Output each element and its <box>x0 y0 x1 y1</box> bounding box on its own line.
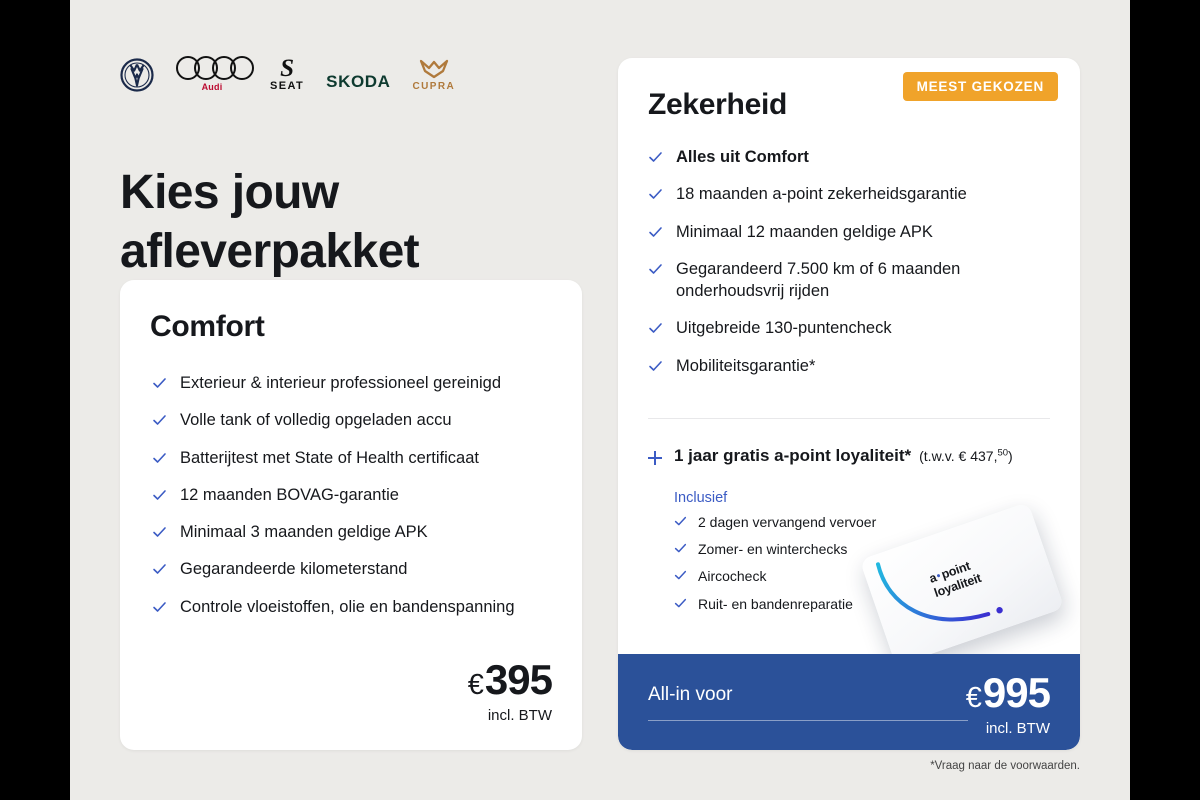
check-icon <box>648 187 663 202</box>
list-item-label: Volle tank of volledig opgeladen accu <box>180 409 452 431</box>
list-item-label: 12 maanden BOVAG-garantie <box>180 484 399 506</box>
loyalty-brand-dot <box>936 574 940 578</box>
brand-logo-bar: Audi S SEAT SKODA CUPRA <box>120 50 455 92</box>
check-icon <box>152 376 167 391</box>
comfort-price: €395 <box>468 659 552 701</box>
list-item: 18 maanden a-point zekerheidsgarantie <box>648 183 1058 205</box>
check-icon <box>648 262 663 277</box>
list-item-label: 2 dagen vervangend vervoer <box>698 513 876 531</box>
plus-icon <box>648 451 662 465</box>
audi-logo-icon: Audi <box>176 56 248 92</box>
loyalty-bonus-title: 1 jaar gratis a-point loyaliteit* <box>674 446 911 465</box>
list-item: Uitgebreide 130-puntencheck <box>648 317 1058 339</box>
currency-symbol: € <box>966 682 982 714</box>
seat-logo-icon: S SEAT <box>270 58 304 92</box>
letterbox-left <box>0 0 70 800</box>
cupra-logo-icon: CUPRA <box>413 59 456 92</box>
check-icon <box>152 600 167 615</box>
list-item-label: Uitgebreide 130-puntencheck <box>676 317 892 339</box>
list-item-label: Gegarandeerde kilometerstand <box>180 558 407 580</box>
list-item: Controle vloeistoffen, olie en bandenspa… <box>152 596 552 618</box>
list-item-label: Controle vloeistoffen, olie en bandenspa… <box>180 596 515 618</box>
list-item: Gegarandeerde kilometerstand <box>152 558 552 580</box>
zekerheid-price-footer: All-in voor €995 incl. BTW <box>618 654 1080 750</box>
list-item: 12 maanden BOVAG-garantie <box>152 484 552 506</box>
included-label: Inclusief <box>674 490 727 506</box>
comfort-feature-list: Exterieur & interieur professioneel gere… <box>152 372 552 633</box>
loyalty-value-suffix: ) <box>1008 448 1013 464</box>
zekerheid-feature-list: Alles uit Comfort 18 maanden a-point zek… <box>648 146 1058 392</box>
loyalty-bonus-value: (t.w.v. € 437,50) <box>919 448 1013 464</box>
list-item: Alles uit Comfort <box>648 146 1058 168</box>
currency-symbol: € <box>468 669 484 701</box>
check-icon <box>152 413 167 428</box>
zekerheid-price-block: €995 incl. BTW <box>966 672 1050 737</box>
page-canvas: Audi S SEAT SKODA CUPRA Kies jouw afleve… <box>70 0 1130 800</box>
check-icon <box>674 542 687 555</box>
status-badge: MEEST GEKOZEN <box>903 72 1058 101</box>
list-item-label: Minimaal 3 maanden geldige APK <box>180 521 428 543</box>
check-icon <box>152 451 167 466</box>
comfort-package-card[interactable]: Comfort Exterieur & interieur profession… <box>120 280 582 750</box>
loyalty-value-cents: 50 <box>997 447 1008 458</box>
cupra-wordmark: CUPRA <box>413 81 456 92</box>
comfort-price-note: incl. BTW <box>468 707 552 724</box>
list-item: Mobiliteitsgarantie* <box>648 355 1058 377</box>
comfort-price-amount: 395 <box>485 656 552 703</box>
letterbox-right <box>1130 0 1200 800</box>
list-item: Exterieur & interieur professioneel gere… <box>152 372 552 394</box>
list-item: Volle tank of volledig opgeladen accu <box>152 409 552 431</box>
zekerheid-price-amount: 995 <box>983 669 1050 716</box>
list-item-label: Mobiliteitsgarantie* <box>676 355 815 377</box>
list-item-label: Gegarandeerd 7.500 km of 6 maanden onder… <box>676 258 1058 303</box>
audi-wordmark: Audi <box>202 82 223 92</box>
volkswagen-logo-icon <box>120 58 154 92</box>
check-icon <box>152 562 167 577</box>
skoda-logo-icon: SKODA <box>326 72 390 92</box>
footer-rule <box>648 720 968 721</box>
list-item: Minimaal 12 maanden geldige APK <box>648 221 1058 243</box>
check-icon <box>648 150 663 165</box>
comfort-card-title: Comfort <box>150 310 265 344</box>
all-in-label: All-in voor <box>648 684 732 706</box>
zekerheid-card-title: Zekerheid <box>648 88 787 122</box>
skoda-wordmark: SKODA <box>326 72 390 92</box>
loyalty-bonus-row: 1 jaar gratis a-point loyaliteit*(t.w.v.… <box>648 446 1060 466</box>
footnote: *Vraag naar de voorwaarden. <box>930 760 1080 772</box>
check-icon <box>674 569 687 582</box>
section-divider <box>648 418 1050 419</box>
zekerheid-price: €995 <box>966 672 1050 714</box>
check-icon <box>152 525 167 540</box>
list-item: Gegarandeerd 7.500 km of 6 maanden onder… <box>648 258 1058 303</box>
list-item-label: Aircocheck <box>698 567 766 585</box>
screenshot-stage: Audi S SEAT SKODA CUPRA Kies jouw afleve… <box>0 0 1200 800</box>
list-item-label: 18 maanden a-point zekerheidsgarantie <box>676 183 967 205</box>
list-item-label: Batterijtest met State of Health certifi… <box>180 447 479 469</box>
check-icon <box>648 359 663 374</box>
loyalty-value-prefix: (t.w.v. € 437, <box>919 448 997 464</box>
audi-rings <box>176 56 248 80</box>
comfort-price-block: €395 incl. BTW <box>468 659 552 724</box>
page-title: Kies jouw afleverpakket <box>120 164 590 281</box>
list-item-label: Zomer- en winterchecks <box>698 540 847 558</box>
list-item: Minimaal 3 maanden geldige APK <box>152 521 552 543</box>
seat-symbol: S <box>280 58 294 79</box>
cupra-symbol <box>419 59 449 79</box>
check-icon <box>648 321 663 336</box>
check-icon <box>674 597 687 610</box>
check-icon <box>674 515 687 528</box>
check-icon <box>648 225 663 240</box>
zekerheid-price-note: incl. BTW <box>966 720 1050 737</box>
list-item-label: Alles uit Comfort <box>676 146 809 168</box>
seat-wordmark: SEAT <box>270 80 304 92</box>
zekerheid-package-card[interactable]: MEEST GEKOZEN Zekerheid Alles uit Comfor… <box>618 58 1080 750</box>
list-item-label: Minimaal 12 maanden geldige APK <box>676 221 933 243</box>
list-item: Batterijtest met State of Health certifi… <box>152 447 552 469</box>
list-item-label: Ruit- en bandenreparatie <box>698 595 853 613</box>
check-icon <box>152 488 167 503</box>
list-item-label: Exterieur & interieur professioneel gere… <box>180 372 501 394</box>
